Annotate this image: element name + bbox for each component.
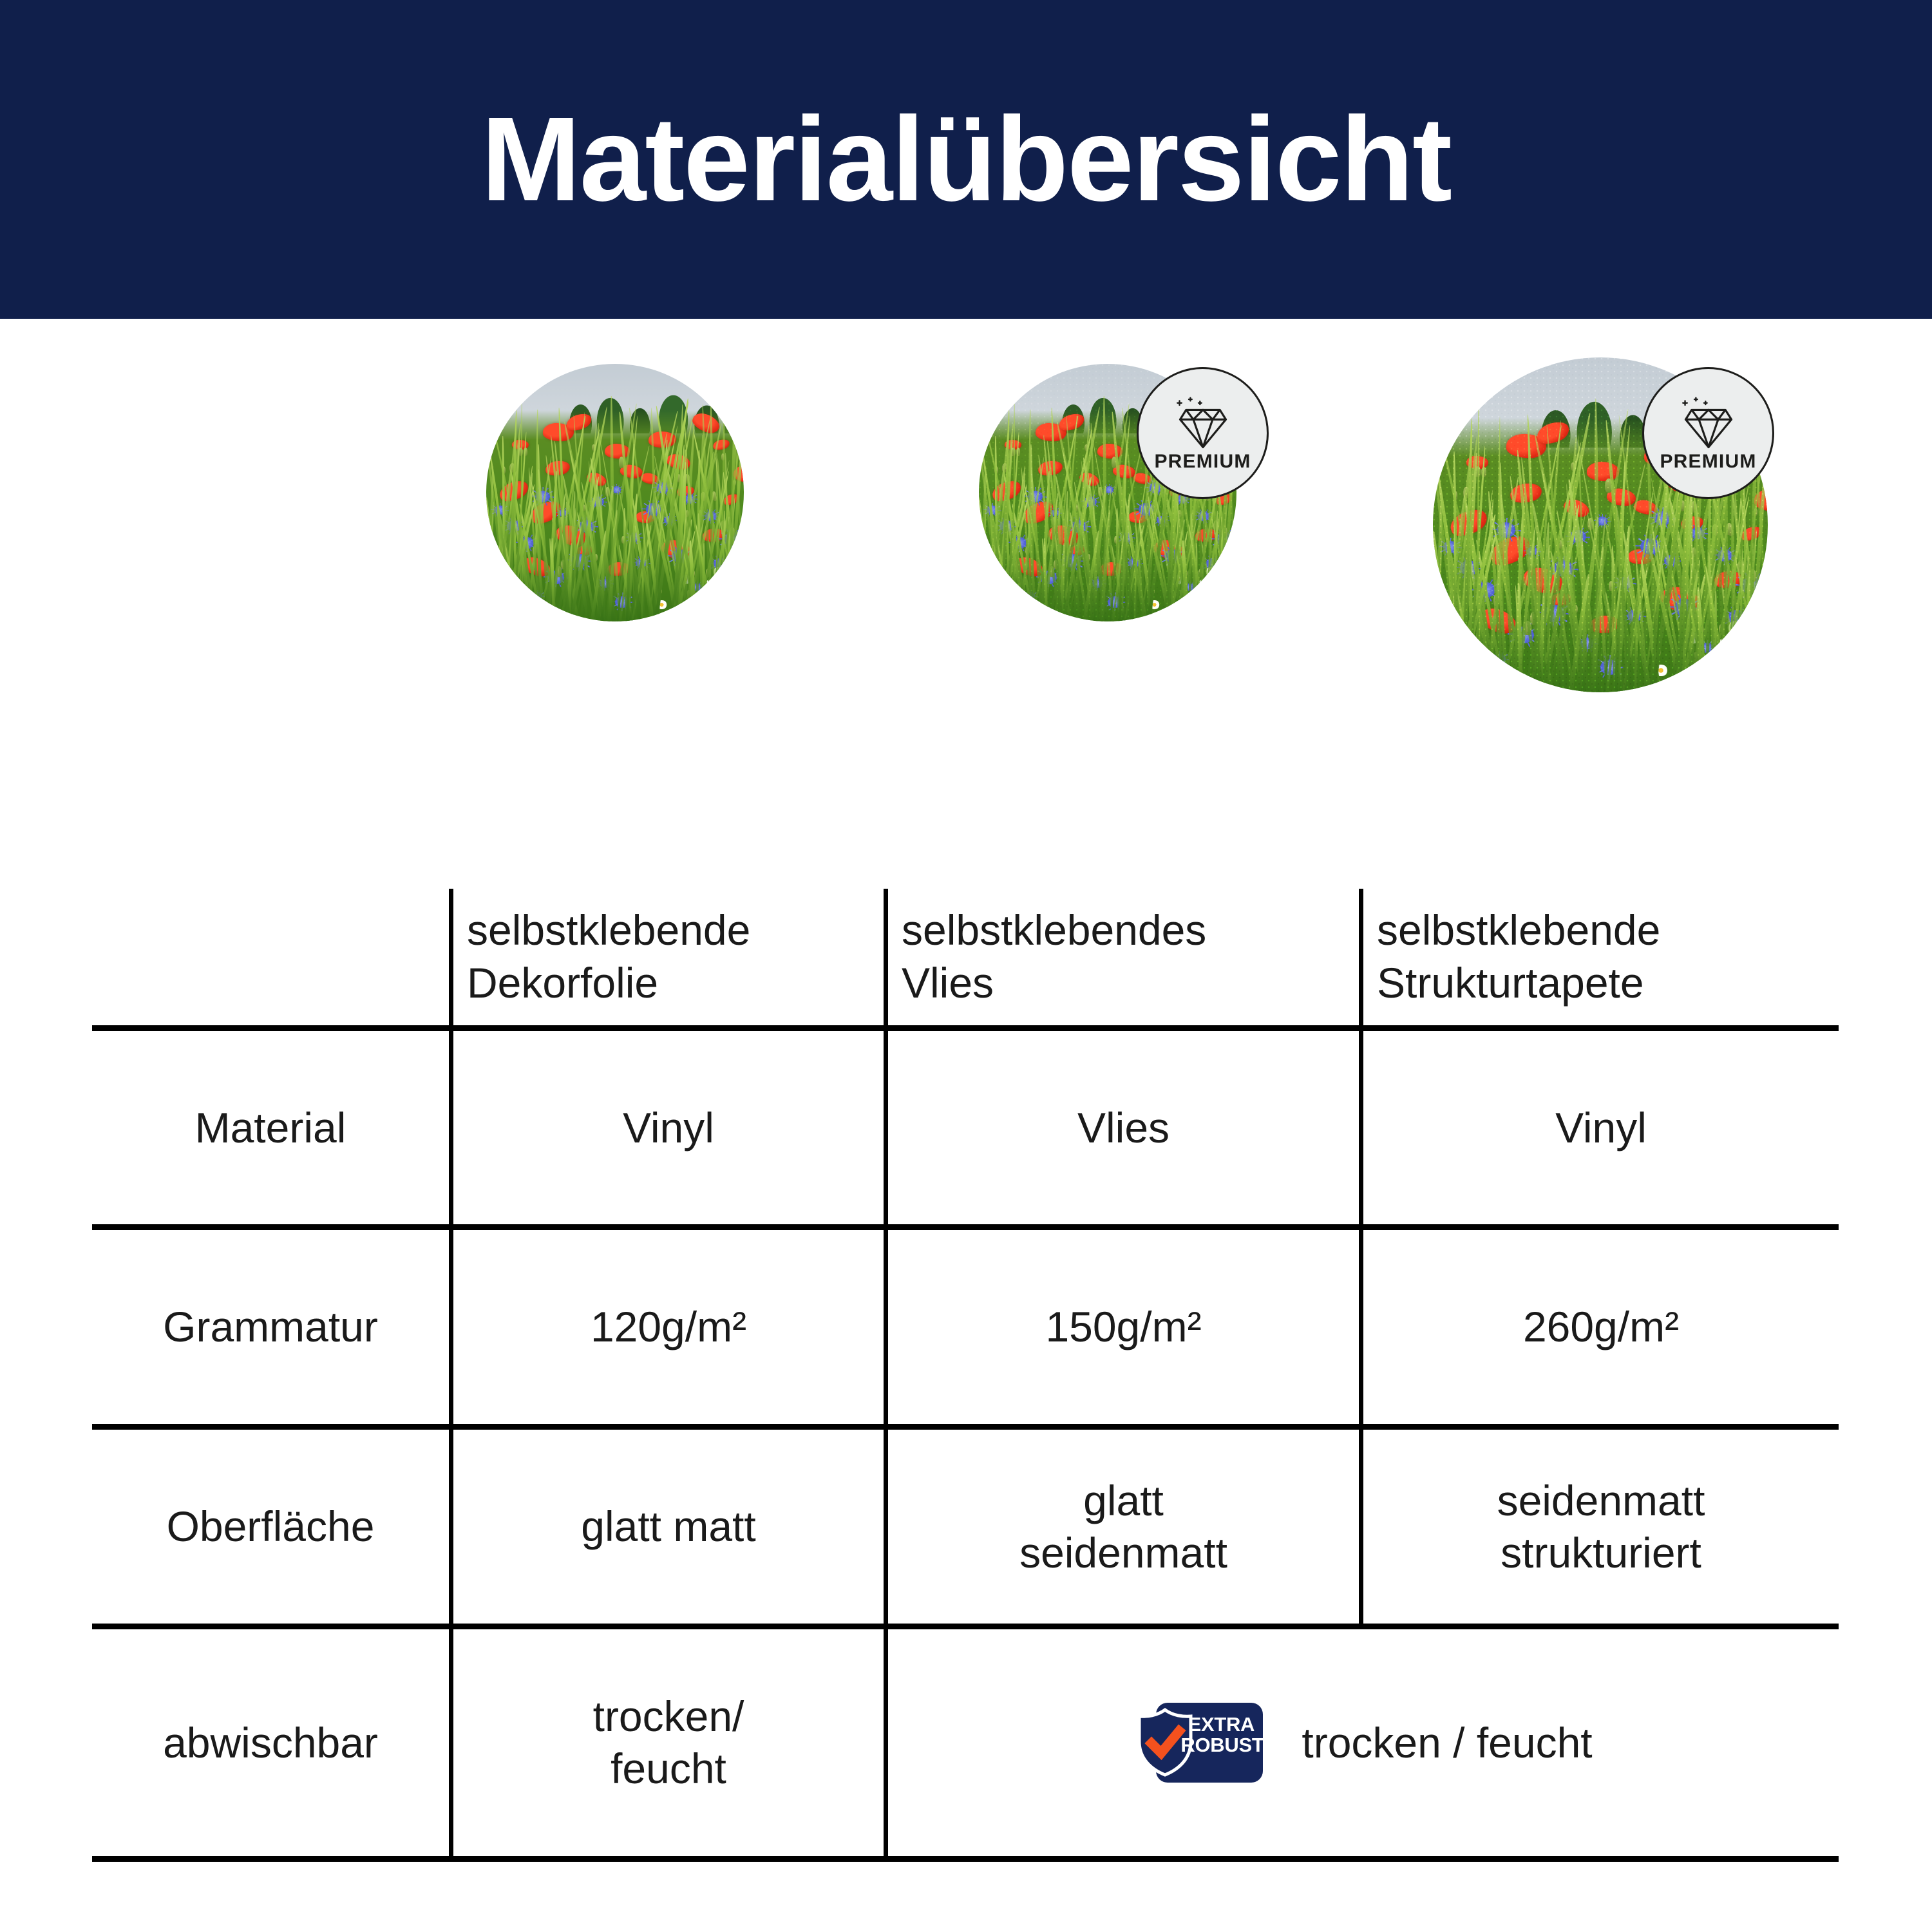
product-preview-strukturtapete[interactable]: PREMIUM xyxy=(1394,357,1806,770)
table-header-col1: selbstklebende Dekorfolie xyxy=(467,889,873,1025)
cell-text-line2: feucht xyxy=(611,1743,726,1795)
table-col-rule-1 xyxy=(449,889,453,1862)
material-comparison-table: selbstklebende Dekorfolie selbstklebende… xyxy=(92,889,1839,1861)
table-cell-abwischbar-dekorfolie: trocken/ feucht xyxy=(453,1629,884,1856)
product-preview-dekorfolie[interactable] xyxy=(409,357,821,770)
table-col-rule-3 xyxy=(1359,889,1363,1624)
premium-badge-label: PREMIUM xyxy=(1154,452,1251,471)
table-cell-grammatur-strukturtapete: 260g/m² xyxy=(1363,1230,1839,1424)
cell-text: 150g/m² xyxy=(1045,1301,1201,1353)
cell-text-line2: seidenmatt xyxy=(1019,1527,1227,1579)
table-header-col1-line1: selbstklebende xyxy=(467,904,750,957)
table-rule-row1-bottom xyxy=(92,1224,1839,1230)
product-preview-vlies[interactable]: PREMIUM xyxy=(902,357,1314,770)
robust-label-line2: ROBUST xyxy=(1180,1735,1262,1756)
cell-text-line1: seidenmatt xyxy=(1497,1475,1705,1527)
premium-badge: PREMIUM xyxy=(1137,367,1269,499)
row-label-text: Grammatur xyxy=(163,1301,378,1353)
table-cell-material-vlies: Vlies xyxy=(888,1031,1359,1224)
table-cell-material-strukturtapete: Vinyl xyxy=(1363,1031,1839,1224)
extra-robust-badge: EXTRA ROBUST xyxy=(1134,1703,1263,1783)
table-header-col2: selbstklebendes Vlies xyxy=(902,889,1349,1025)
cell-text: Vinyl xyxy=(623,1102,714,1154)
table-cell-material-dekorfolie: Vinyl xyxy=(453,1031,884,1224)
table-row-label-material: Material xyxy=(92,1031,449,1224)
table-cell-oberflaeche-dekorfolie: glatt matt xyxy=(453,1430,884,1624)
table-cell-grammatur-vlies: 150g/m² xyxy=(888,1230,1359,1424)
row-label-text: Oberfläche xyxy=(167,1501,375,1553)
table-header-col3-line1: selbstklebende xyxy=(1377,904,1660,957)
premium-badge: PREMIUM xyxy=(1642,367,1774,499)
table-row-label-oberflaeche: Oberfläche xyxy=(92,1430,449,1624)
diamond-icon xyxy=(1172,395,1234,451)
table-row-label-grammatur: Grammatur xyxy=(92,1230,449,1424)
table-header-col2-line1: selbstklebendes xyxy=(902,904,1206,957)
meadow-artwork xyxy=(486,364,744,621)
cell-text: glatt matt xyxy=(581,1501,755,1553)
table-rule-header-bottom xyxy=(92,1025,1839,1031)
page-header: Materialübersicht xyxy=(0,0,1932,319)
grass-blades xyxy=(486,364,744,621)
table-rule-bottom xyxy=(92,1856,1839,1862)
diamond-icon xyxy=(1678,395,1739,451)
table-rule-row3-bottom xyxy=(92,1624,1839,1629)
table-header-col2-line2: Vlies xyxy=(902,957,994,1010)
cell-text: Vlies xyxy=(1077,1102,1170,1154)
cell-text: 260g/m² xyxy=(1523,1301,1679,1353)
table-header-col3: selbstklebende Strukturtapete xyxy=(1377,889,1839,1025)
robust-label: EXTRA ROBUST xyxy=(1180,1714,1262,1756)
table-cell-grammatur-dekorfolie: 120g/m² xyxy=(453,1230,884,1424)
cell-text-line1: glatt xyxy=(1083,1475,1164,1527)
cell-text-line2: strukturiert xyxy=(1501,1527,1701,1579)
cell-text: 120g/m² xyxy=(591,1301,746,1353)
cell-text-line1: trocken/ xyxy=(593,1690,744,1743)
page-title: Materialübersicht xyxy=(481,100,1451,220)
premium-badge-label: PREMIUM xyxy=(1660,452,1756,471)
robust-label-line1: EXTRA xyxy=(1180,1714,1262,1735)
table-rule-row2-bottom xyxy=(92,1424,1839,1430)
table-header-col1-line2: Dekorfolie xyxy=(467,957,658,1010)
cell-text: Vinyl xyxy=(1555,1102,1647,1154)
table-header-col3-line2: Strukturtapete xyxy=(1377,957,1644,1010)
table-cell-abwischbar-merged: EXTRA ROBUST trocken / feucht xyxy=(888,1629,1839,1856)
table-cell-oberflaeche-vlies: glatt seidenmatt xyxy=(888,1430,1359,1624)
table-row-label-abwischbar: abwischbar xyxy=(92,1629,449,1856)
product-image-1 xyxy=(486,364,744,621)
row-label-text: Material xyxy=(195,1102,346,1154)
table-col-rule-2 xyxy=(884,889,888,1862)
row-label-text: abwischbar xyxy=(163,1717,378,1769)
cell-text: trocken / feucht xyxy=(1302,1717,1592,1769)
table-cell-oberflaeche-strukturtapete: seidenmatt strukturiert xyxy=(1363,1430,1839,1624)
product-preview-row: PREMIUM xyxy=(0,357,1932,776)
